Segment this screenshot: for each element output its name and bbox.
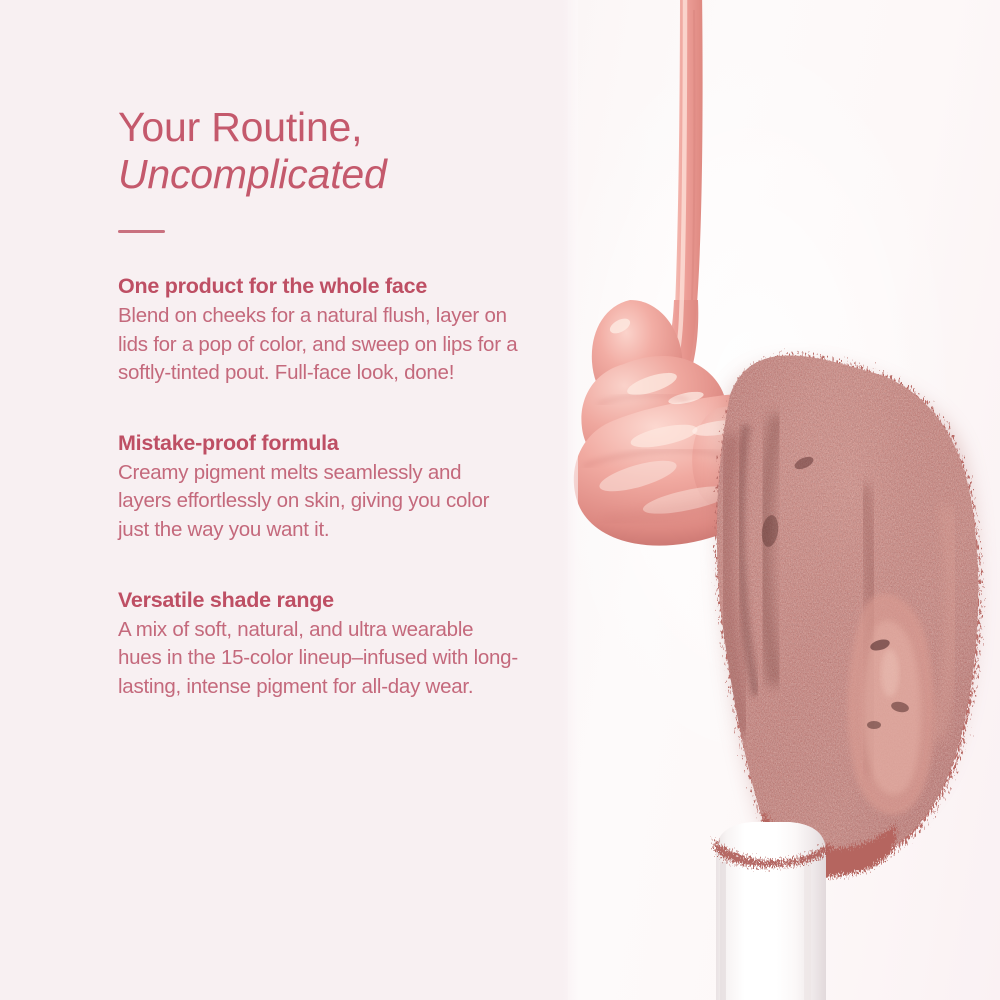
feature-heading-2: Mistake-proof formula xyxy=(118,431,558,456)
feature-body-2: Creamy pigment melts seamlessly and laye… xyxy=(118,459,518,545)
feature-body-1: Blend on cheeks for a natural flush, lay… xyxy=(118,302,518,388)
title-line-1: Your Routine, xyxy=(118,104,362,150)
applicator-handle xyxy=(714,822,831,1000)
feature-heading-3: Versatile shade range xyxy=(118,588,558,613)
applicator-illustration xyxy=(568,0,1000,1000)
flocked-applicator-tip xyxy=(688,325,1000,895)
copy-column: Your Routine, Uncomplicated One product … xyxy=(118,0,558,1000)
feature-body-3: A mix of soft, natural, and ultra wearab… xyxy=(118,616,518,702)
title-line-2-italic: Uncomplicated xyxy=(118,151,558,198)
feature-block-3: Versatile shade range A mix of soft, nat… xyxy=(118,588,558,702)
feature-heading-1: One product for the whole face xyxy=(118,274,558,299)
panel-seam xyxy=(562,0,578,1000)
marketing-panel: Your Routine, Uncomplicated One product … xyxy=(0,0,1000,1000)
page-title: Your Routine, Uncomplicated xyxy=(118,104,558,198)
feature-block-1: One product for the whole face Blend on … xyxy=(118,274,558,388)
applicator-svg xyxy=(568,0,1000,1000)
product-photo xyxy=(568,0,1000,1000)
feature-block-2: Mistake-proof formula Creamy pigment mel… xyxy=(118,431,558,545)
title-divider xyxy=(118,230,165,233)
